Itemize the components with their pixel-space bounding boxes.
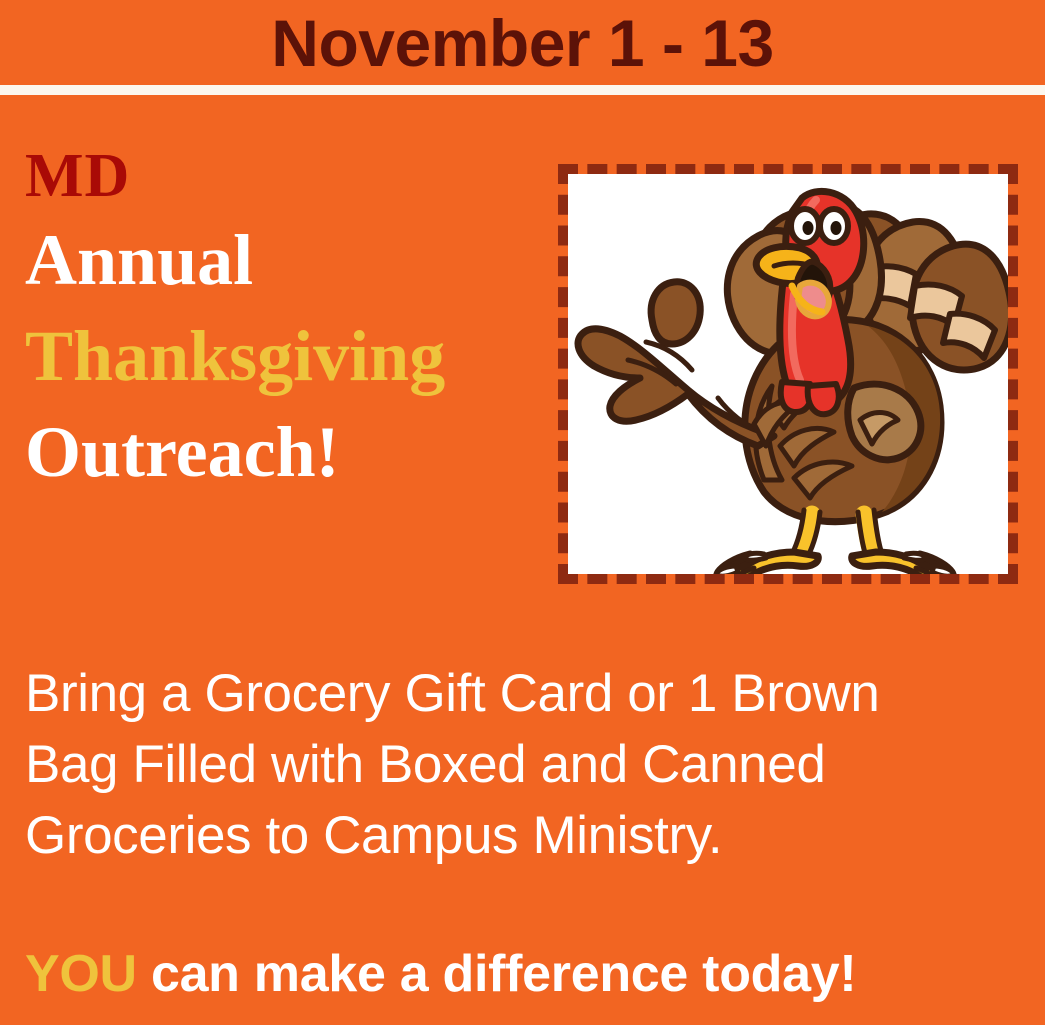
title-line-thanksgiving: Thanksgiving [25, 308, 545, 404]
turkey-image-dashed-border [558, 164, 1018, 584]
title-line-outreach: Outreach! [25, 404, 545, 500]
poster-title-block: MD Annual Thanksgiving Outreach! [25, 140, 545, 500]
tagline-highlight-you: YOU [25, 945, 137, 1003]
thanksgiving-outreach-poster: November 1 - 13 MD Annual Thanksgiving O… [0, 0, 1045, 1025]
title-line-annual: Annual [25, 212, 545, 308]
instruction-paragraph: Bring a Grocery Gift Card or 1 Brown Bag… [25, 658, 1015, 871]
instruction-line-1: Bring a Grocery Gift Card or 1 Brown [25, 658, 1015, 729]
instruction-line-2: Bag Filled with Boxed and Canned [25, 729, 1015, 800]
title-line-md: MD [25, 140, 545, 212]
header-date-range: November 1 - 13 [0, 4, 1045, 82]
call-to-action-tagline: YOU can make a difference today! [25, 943, 1015, 1005]
header-band: November 1 - 13 [0, 0, 1045, 85]
tagline-rest: can make a difference today! [137, 945, 857, 1003]
turkey-image-frame [558, 164, 1018, 584]
instruction-line-3: Groceries to Campus Ministry. [25, 800, 1015, 871]
header-divider-rule [0, 85, 1045, 95]
